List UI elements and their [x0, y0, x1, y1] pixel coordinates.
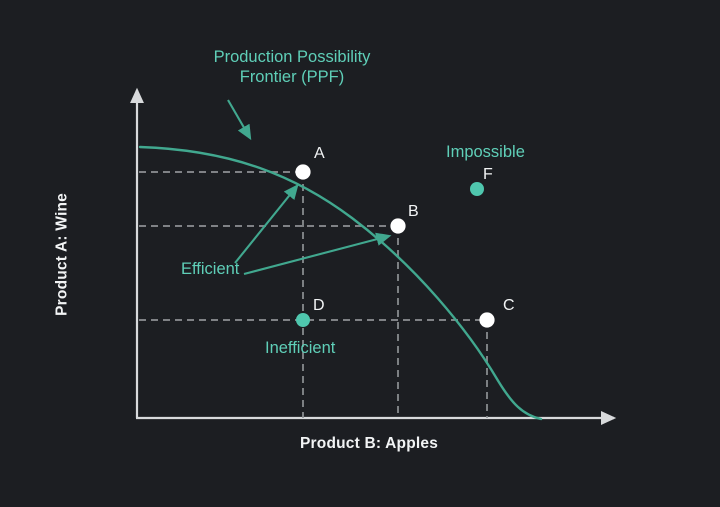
y-axis-label: Product A: Wine	[54, 174, 73, 334]
point-label-a: A	[314, 144, 325, 164]
efficient-annotation: Efficient	[181, 259, 239, 279]
impossible-annotation: Impossible	[446, 142, 525, 162]
ppf-title-annotation: Production Possibility Frontier (PPF)	[192, 47, 392, 87]
axes	[136, 90, 614, 418]
point-label-f: F	[483, 165, 493, 185]
point-label-b: B	[408, 202, 419, 222]
arrow-to-curve	[228, 100, 250, 138]
ppf-diagram: Production Possibility Frontier (PPF) Im…	[0, 0, 720, 507]
arrow-efficient-to-A	[235, 186, 297, 263]
data-points	[295, 164, 494, 327]
point-F[interactable]	[470, 182, 484, 196]
ppf-title-line-1: Production Possibility	[214, 48, 371, 66]
point-C[interactable]	[479, 312, 494, 327]
point-label-d: D	[313, 296, 325, 316]
point-B[interactable]	[390, 218, 405, 233]
point-D[interactable]	[296, 313, 310, 327]
annotation-arrows	[228, 100, 389, 274]
ppf-title-line-2: Frontier (PPF)	[240, 68, 345, 86]
arrow-efficient-to-B	[244, 236, 389, 274]
x-axis-label: Product B: Apples	[300, 435, 438, 454]
point-A[interactable]	[295, 164, 310, 179]
inefficient-annotation: Inefficient	[265, 338, 335, 358]
point-label-c: C	[503, 296, 515, 316]
